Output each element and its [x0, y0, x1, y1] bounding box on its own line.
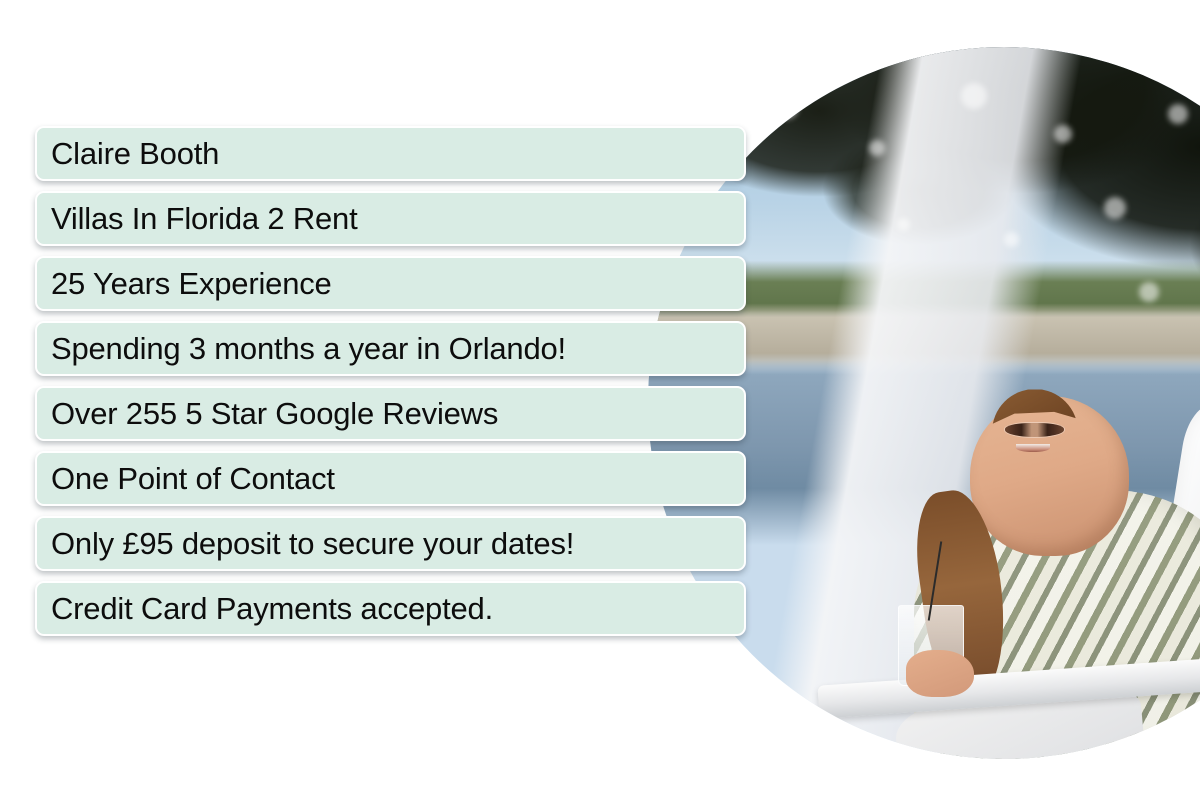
promo-card: Claire Booth Villas In Florida 2 Rent 25…	[0, 0, 1200, 800]
bokeh-highlight-icon	[897, 218, 910, 231]
person-hand	[906, 650, 974, 697]
feature-bar-label: Credit Card Payments accepted.	[51, 593, 493, 624]
feature-bar: Credit Card Payments accepted.	[35, 581, 746, 636]
person-head	[970, 396, 1129, 556]
feature-bar: Spending 3 months a year in Orlando!	[35, 321, 746, 376]
feature-bar-label: Only £95 deposit to secure your dates!	[51, 528, 574, 559]
feature-bar-label: Spending 3 months a year in Orlando!	[51, 333, 566, 364]
feature-bar: One Point of Contact	[35, 451, 746, 506]
bokeh-highlight-icon	[1054, 125, 1072, 143]
feature-bar: Claire Booth	[35, 126, 746, 181]
feature-bar: Villas In Florida 2 Rent	[35, 191, 746, 246]
feature-bar-label: 25 Years Experience	[51, 268, 332, 299]
feature-bar: Only £95 deposit to secure your dates!	[35, 516, 746, 571]
feature-bar: 25 Years Experience	[35, 256, 746, 311]
sunglasses-icon	[1005, 423, 1064, 437]
feature-bar-label: Over 255 5 Star Google Reviews	[51, 398, 498, 429]
feature-bar-label: Villas In Florida 2 Rent	[51, 203, 358, 234]
feature-bar-list: Claire Booth Villas In Florida 2 Rent 25…	[35, 126, 746, 646]
bokeh-highlight-icon	[776, 97, 798, 119]
bokeh-highlight-icon	[961, 83, 987, 109]
person-figure	[890, 396, 1200, 759]
bokeh-highlight-icon	[1004, 232, 1019, 247]
person-smile	[1016, 444, 1049, 452]
bokeh-highlight-icon	[1104, 197, 1126, 219]
feature-bar-label: Claire Booth	[51, 138, 219, 169]
feature-bar: Over 255 5 Star Google Reviews	[35, 386, 746, 441]
bokeh-highlight-icon	[869, 140, 885, 156]
bokeh-highlight-icon	[1139, 282, 1159, 302]
feature-bar-label: One Point of Contact	[51, 463, 335, 494]
bokeh-highlight-icon	[1168, 104, 1188, 124]
